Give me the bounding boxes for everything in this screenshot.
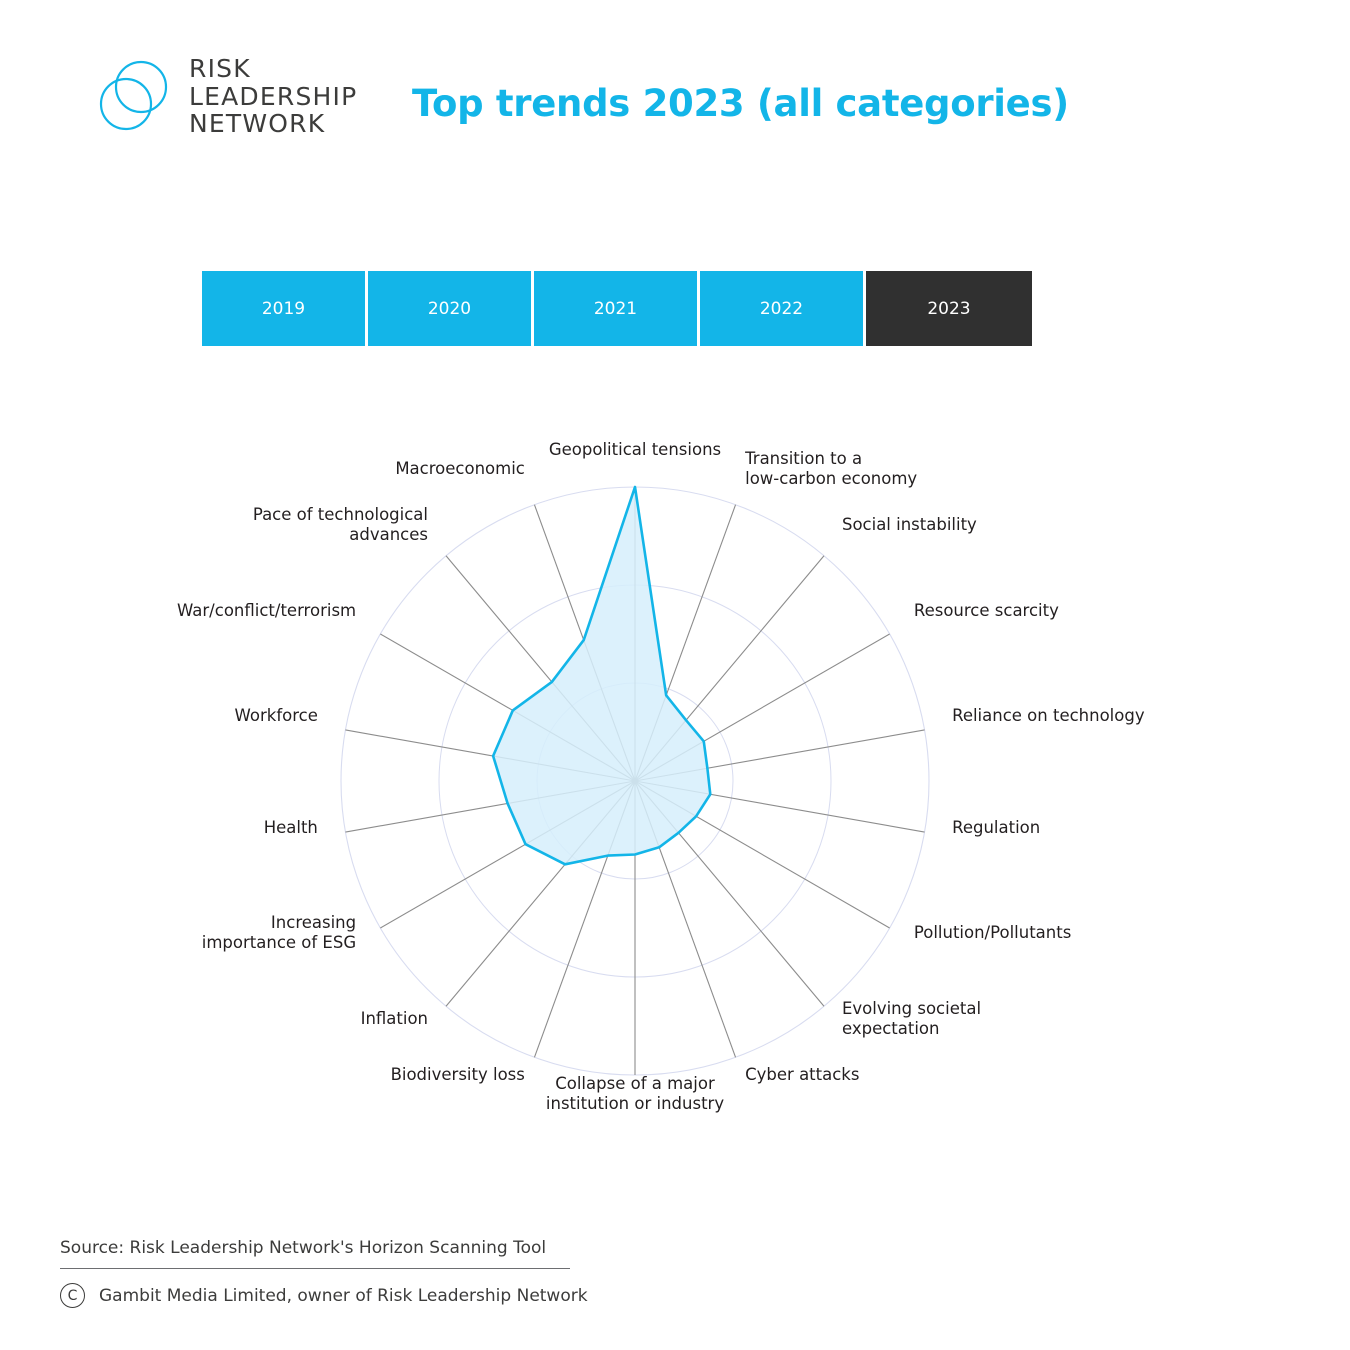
radar-chart: Geopolitical tensionsTransition to a low…	[0, 400, 1350, 1190]
tab-2023[interactable]: 2023	[866, 271, 1032, 346]
axis-label-health: Health	[264, 818, 318, 838]
page-title: Top trends 2023 (all categories)	[412, 82, 1069, 125]
radar-series-polygon	[493, 487, 710, 864]
axis-label-workforce: Workforce	[235, 706, 318, 726]
axis-label-pollution-pollutants: Pollution/Pollutants	[914, 923, 1071, 943]
axis-label-war-conflict-terrorism: War/conflict/terrorism	[177, 601, 356, 621]
two-overlapping-circles-icon	[95, 56, 175, 136]
axis-label-biodiversity-loss: Biodiversity loss	[391, 1065, 525, 1085]
brand-logo-text: RISK LEADERSHIP NETWORK	[189, 55, 357, 138]
copyright-icon: C	[60, 1283, 85, 1308]
tab-2020[interactable]: 2020	[368, 271, 534, 346]
axis-label-increasing-importance-of-esg: Increasing importance of ESG	[202, 913, 356, 953]
axis-label-macroeconomic: Macroeconomic	[395, 459, 525, 479]
copyright-text: Gambit Media Limited, owner of Risk Lead…	[99, 1286, 588, 1306]
axis-label-inflation: Inflation	[361, 1009, 428, 1029]
source-text: Source: Risk Leadership Network's Horizo…	[60, 1238, 1290, 1268]
axis-label-geopolitical-tensions: Geopolitical tensions	[549, 440, 721, 460]
copyright-row: C Gambit Media Limited, owner of Risk Le…	[60, 1269, 1290, 1308]
axis-label-evolving-societal-expectation: Evolving societal expectation	[842, 999, 981, 1039]
page-footer: Source: Risk Leadership Network's Horizo…	[60, 1238, 1290, 1308]
page-header: RISK LEADERSHIP NETWORK Top trends 2023 …	[0, 0, 1350, 190]
tab-2021[interactable]: 2021	[534, 271, 700, 346]
axis-label-collapse-of-a-major-institution-or-industry: Collapse of a major institution or indus…	[546, 1074, 724, 1114]
axis-label-cyber-attacks: Cyber attacks	[745, 1065, 859, 1085]
radar-chart-svg	[0, 400, 1350, 1190]
axis-label-pace-of-technological-advances: Pace of technological advances	[253, 505, 428, 545]
axis-label-reliance-on-technology: Reliance on technology	[952, 706, 1145, 726]
tab-2019[interactable]: 2019	[202, 271, 368, 346]
axis-label-resource-scarcity: Resource scarcity	[914, 601, 1059, 621]
axis-label-social-instability: Social instability	[842, 515, 977, 535]
tab-2022[interactable]: 2022	[700, 271, 866, 346]
axis-label-regulation: Regulation	[952, 818, 1040, 838]
brand-logo: RISK LEADERSHIP NETWORK	[95, 55, 357, 138]
axis-label-transition-to-a-low-carbon-economy: Transition to a low-carbon economy	[745, 449, 917, 489]
year-tab-bar: 2019 2020 2021 2022 2023	[202, 271, 1032, 346]
